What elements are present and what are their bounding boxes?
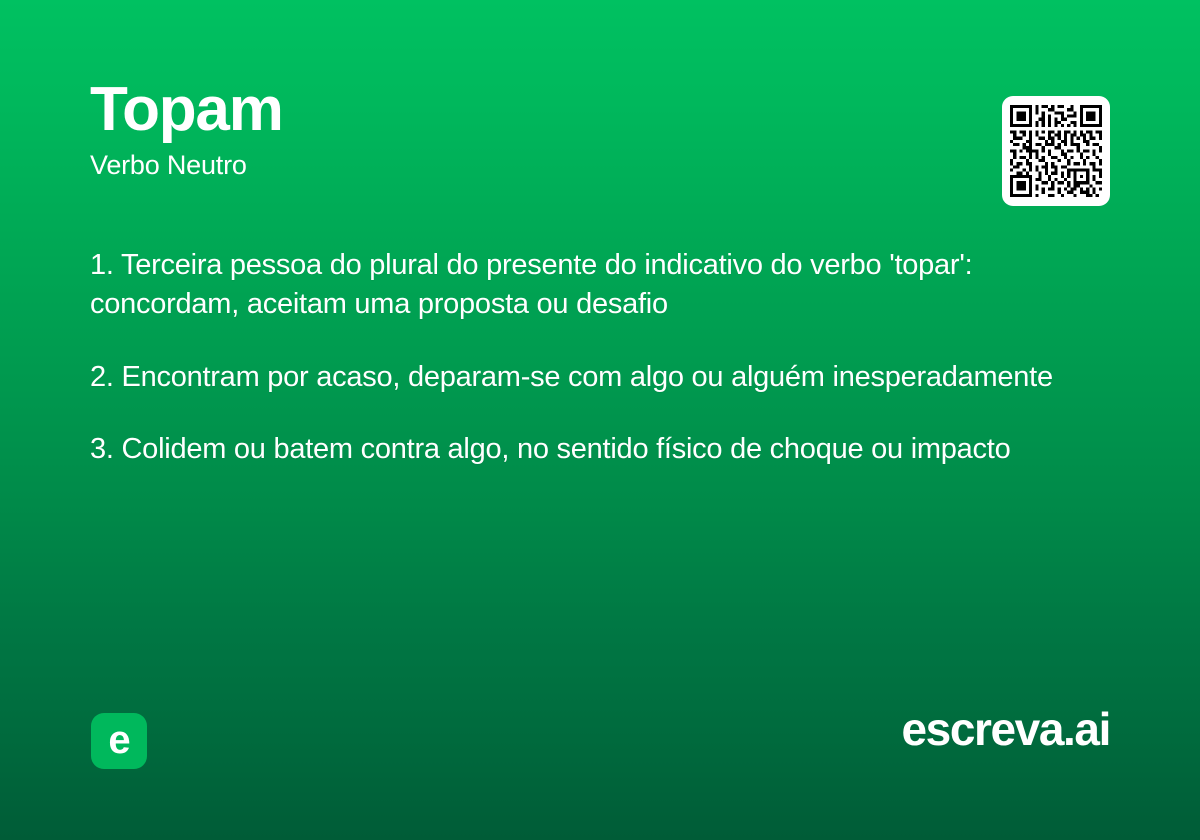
definition-card: Topam Verbo Neutro xyxy=(0,0,1200,840)
qr-code[interactable] xyxy=(1002,96,1110,206)
word-class-label: Verbo Neutro xyxy=(90,151,950,181)
card-header: Topam Verbo Neutro xyxy=(90,78,950,181)
brand-logo-letter: e xyxy=(108,720,129,760)
qr-code-icon xyxy=(1010,104,1102,198)
brand-logo-icon: e xyxy=(91,713,147,769)
definition-item: 2. Encontram por acaso, deparam-se com a… xyxy=(90,358,1100,397)
definition-item: 3. Colidem ou batem contra algo, no sent… xyxy=(90,430,1100,469)
definitions-list: 1. Terceira pessoa do plural do presente… xyxy=(90,246,1100,470)
word-title: Topam xyxy=(90,78,950,141)
card-footer: e escreva.ai xyxy=(0,690,1200,840)
brand-wordmark: escreva.ai xyxy=(901,706,1110,752)
definition-item: 1. Terceira pessoa do plural do presente… xyxy=(90,246,1100,325)
